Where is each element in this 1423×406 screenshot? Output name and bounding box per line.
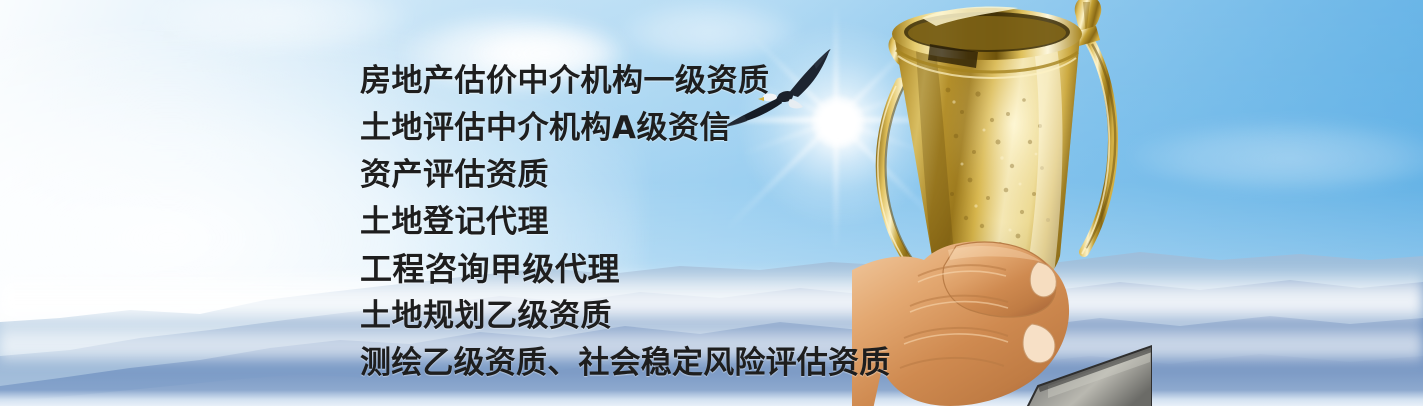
qualification-line-6: 土地规划乙级资质: [360, 293, 890, 340]
gold-trophy-icon: [852, 0, 1152, 406]
qualification-list: 房地产估价中介机构一级资质 土地评估中介机构A级资信 资产评估资质 土地登记代理…: [360, 58, 890, 387]
qualification-line-5: 工程咨询甲级代理: [360, 246, 890, 293]
qualification-line-4: 土地登记代理: [360, 199, 890, 246]
qualification-line-3: 资产评估资质: [360, 152, 890, 199]
promo-banner: 房地产估价中介机构一级资质 土地评估中介机构A级资信 资产评估资质 土地登记代理…: [0, 0, 1423, 406]
bottom-fade: [0, 390, 1423, 406]
qualification-line-2: 土地评估中介机构A级资信: [360, 105, 890, 152]
qualification-line-7: 测绘乙级资质、社会稳定风险评估资质: [360, 340, 890, 387]
qualification-line-1: 房地产估价中介机构一级资质: [360, 58, 890, 105]
